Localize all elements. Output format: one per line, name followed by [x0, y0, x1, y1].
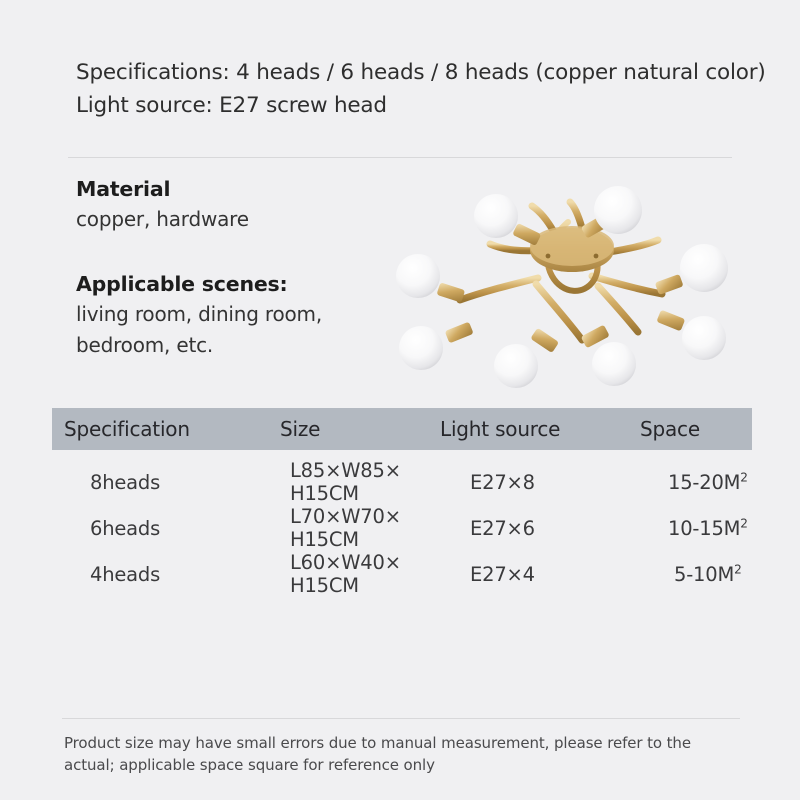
cell-light-source: E27×4: [440, 563, 640, 586]
table-row: 8heads L85×W85× H15CM E27×8 15-20M2: [52, 459, 752, 505]
column-header-size: Size: [280, 417, 440, 441]
lamp-canopy: [530, 226, 614, 272]
cell-light-source: E27×6: [440, 517, 640, 540]
applicable-scenes-line1: living room, dining room,: [76, 299, 396, 330]
cell-space: 5-10M2: [640, 563, 752, 586]
cell-size: L85×W85× H15CM: [280, 459, 440, 505]
light-source-line: Light source: E27 screw head: [76, 89, 776, 122]
cell-specification: 4heads: [52, 563, 280, 586]
cell-space-unit: 2: [740, 516, 748, 530]
cell-space-unit: 2: [740, 470, 748, 484]
applicable-scenes-line2: bedroom, etc.: [76, 330, 396, 361]
divider-bottom: [62, 718, 740, 719]
cell-space-unit: 2: [734, 562, 742, 576]
table-row: 6heads L70×W70× H15CM E27×6 10-15M2: [52, 505, 752, 551]
specifications-line: Specifications: 4 heads / 6 heads / 8 he…: [76, 56, 776, 89]
info-spacer: [76, 235, 396, 269]
column-header-space: Space: [640, 417, 752, 441]
footer-line-2: actual; applicable space square for refe…: [64, 754, 754, 776]
table-body: 8heads L85×W85× H15CM E27×8 15-20M2 6hea…: [52, 450, 752, 597]
specification-table: Specification Size Light source Space 8h…: [52, 408, 752, 597]
intro-block: Specifications: 4 heads / 6 heads / 8 he…: [76, 56, 776, 122]
cell-space: 10-15M2: [640, 517, 752, 540]
cell-size: L70×W70× H15CM: [280, 505, 440, 551]
cell-light-source: E27×8: [440, 471, 640, 494]
cell-space-value: 5-10M: [674, 563, 734, 586]
column-header-specification: Specification: [52, 417, 280, 441]
material-value: copper, hardware: [76, 204, 396, 235]
cell-specification: 6heads: [52, 517, 280, 540]
cell-size: L60×W40× H15CM: [280, 551, 440, 597]
cell-specification: 8heads: [52, 471, 280, 494]
info-block: Material copper, hardware Applicable sce…: [76, 174, 396, 361]
footer-disclaimer: Product size may have small errors due t…: [64, 732, 754, 776]
cell-space-value: 15-20M: [668, 471, 740, 494]
column-header-light-source: Light source: [440, 417, 640, 441]
material-heading: Material: [76, 174, 396, 204]
product-image: [386, 158, 754, 402]
footer-line-1: Product size may have small errors due t…: [64, 732, 754, 754]
applicable-scenes-heading: Applicable scenes:: [76, 269, 396, 299]
product-spec-page: Specifications: 4 heads / 6 heads / 8 he…: [0, 0, 800, 800]
cell-space: 15-20M2: [640, 471, 752, 494]
table-header-row: Specification Size Light source Space: [52, 408, 752, 450]
table-row: 4heads L60×W40× H15CM E27×4 5-10M2: [52, 551, 752, 597]
cell-space-value: 10-15M: [668, 517, 740, 540]
